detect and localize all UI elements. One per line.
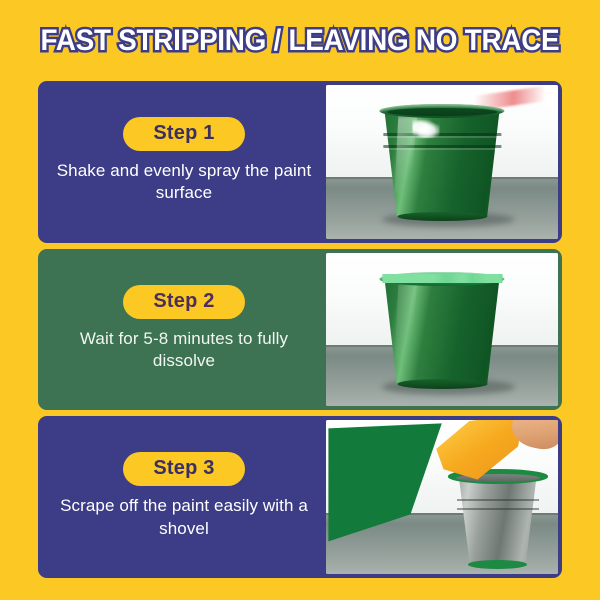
step-2-text-block: Step 2 Wait for 5-8 minutes to fully dis…: [42, 253, 326, 407]
step-1-text-block: Step 1 Shake and evenly spray the paint …: [42, 85, 326, 239]
spray-splatter: [412, 120, 440, 137]
page-title: FAST STRIPPING / LEAVING NO TRACE: [41, 24, 560, 58]
bucket-base: [397, 212, 487, 222]
steps-list: Step 1 Shake and evenly spray the paint …: [38, 81, 562, 600]
step-3-text-block: Step 3 Scrape off the paint easily with …: [42, 420, 326, 574]
step-3-badge: Step 3: [123, 452, 244, 486]
title-bar: FAST STRIPPING / LEAVING NO TRACE: [38, 0, 562, 81]
step-1-photo: [326, 85, 558, 239]
step-1-badge: Step 1: [123, 117, 244, 151]
step-card-2: Step 2 Wait for 5-8 minutes to fully dis…: [38, 249, 562, 411]
metal-bucket-band: [457, 508, 539, 510]
bare-metal-bucket-graphic: [451, 476, 544, 565]
step-1-description: Shake and evenly spray the paint surface: [50, 160, 318, 205]
step-3-photo: [326, 420, 558, 574]
metal-bucket-band: [457, 499, 539, 501]
bucket-rim: [379, 104, 504, 118]
metal-bucket-body: [451, 476, 544, 565]
step-2-badge: Step 2: [123, 285, 244, 319]
infographic-poster: FAST STRIPPING / LEAVING NO TRACE Step 1…: [0, 0, 600, 600]
step-card-1: Step 1 Shake and evenly spray the paint …: [38, 81, 562, 243]
step-2-photo: [326, 253, 558, 407]
paint-crust: [382, 274, 502, 283]
step-3-description: Scrape off the paint easily with a shove…: [50, 495, 318, 540]
step-2-description: Wait for 5-8 minutes to fully dissolve: [50, 328, 318, 373]
step-card-3: Step 3 Scrape off the paint easily with …: [38, 416, 562, 578]
bucket-base: [397, 379, 487, 389]
green-bucket-graphic: [379, 110, 504, 218]
blistered-bucket-graphic: [379, 277, 504, 385]
